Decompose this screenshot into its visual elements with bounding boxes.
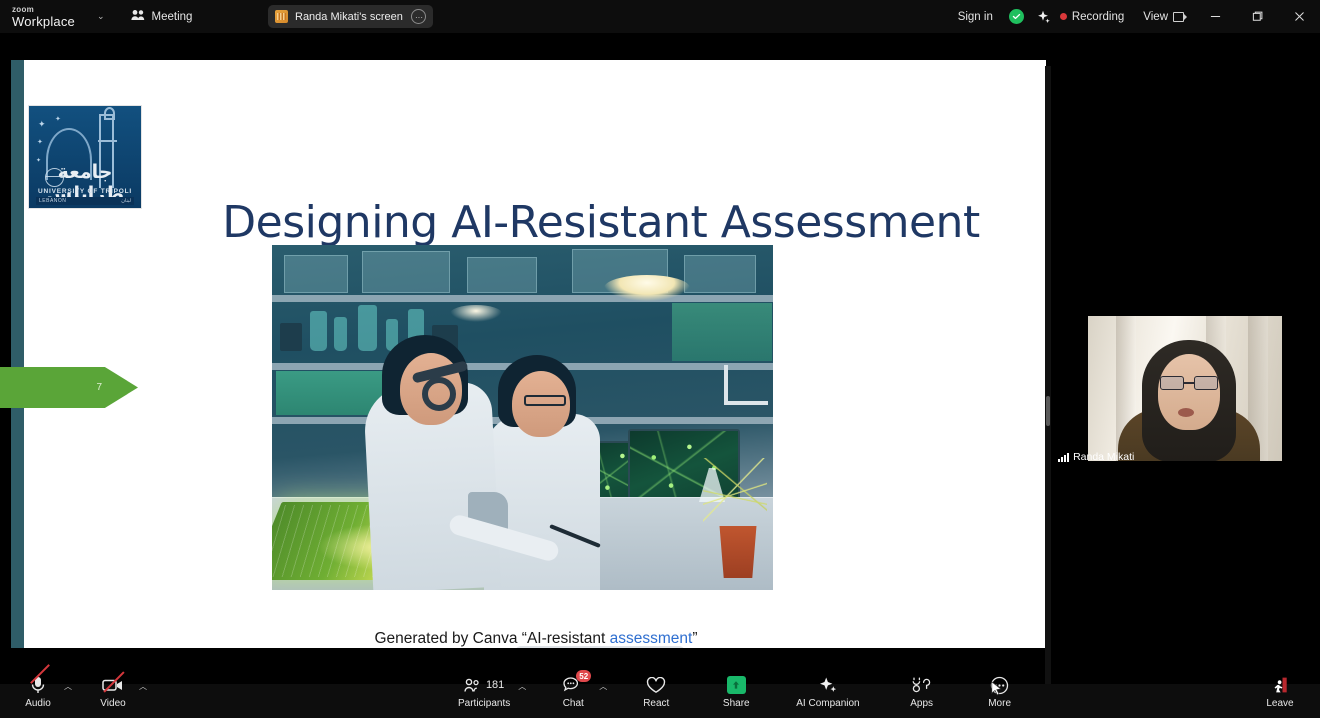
participants-label: Participants — [458, 698, 510, 709]
more-options-icon[interactable]: ··· — [411, 9, 426, 24]
video-button[interactable]: Video — [91, 675, 135, 709]
zoom-brand-small: zoom — [12, 6, 75, 14]
shared-screen-stage: ✦ ✦ ✦ ✦ جامعة طرابلس UNIVERSITY OF TRIPO… — [0, 33, 1320, 684]
caption-suffix: ” — [692, 630, 697, 647]
audio-level-icon — [1058, 453, 1069, 462]
meeting-menu[interactable]: Meeting — [131, 8, 193, 26]
participants-count: 181 — [486, 679, 504, 691]
ai-companion-label: AI Companion — [796, 698, 859, 709]
ceiling-lamp — [450, 305, 502, 322]
recording-indicator[interactable]: Recording — [1060, 11, 1124, 23]
participant-name-bar: Randa Mikati — [1052, 449, 1140, 465]
logo-english-name: UNIVERSITY OF TRIPOLI — [29, 188, 141, 195]
panel-splitter[interactable] — [1045, 66, 1051, 717]
heart-icon — [646, 675, 666, 695]
chat-label: Chat — [563, 698, 584, 709]
slide-left-accent-bar — [11, 60, 24, 648]
lab-panel — [362, 251, 450, 293]
ceiling-lamp — [604, 275, 690, 301]
lab-equipment — [280, 323, 302, 351]
video-tile-randa-mikati[interactable]: Randa Mikati — [1052, 312, 1318, 465]
generated-lab-illustration — [272, 245, 773, 590]
logo-country-bar: LEBANON لبنان — [36, 197, 134, 205]
participant-glasses — [1160, 376, 1218, 390]
logo-country-ar: لبنان — [121, 198, 131, 204]
react-label: React — [643, 698, 669, 709]
lab-flask — [310, 311, 327, 351]
people-icon — [131, 8, 145, 26]
chat-button[interactable]: 52 Chat — [551, 675, 595, 709]
react-button[interactable]: React — [634, 675, 678, 709]
scientist-glasses — [524, 395, 566, 406]
share-screen-icon — [727, 675, 746, 695]
participants-button[interactable]: 181 Participants — [454, 675, 514, 709]
title-bar-right: Sign in Recording View — [948, 0, 1320, 33]
chat-message-toast[interactable]: From Loco Chaudet to everyone We can not… — [515, 646, 685, 648]
audio-label: Audio — [25, 698, 51, 709]
ai-companion-button[interactable]: AI Companion — [792, 675, 863, 709]
caption-link[interactable]: assessment — [610, 630, 693, 647]
recording-dot-icon — [1060, 13, 1067, 20]
leave-door-icon — [1270, 675, 1290, 695]
lab-panel — [284, 255, 348, 293]
apps-label: Apps — [910, 698, 933, 709]
shared-screen-tab-label: Randa Mikati's screen — [295, 11, 404, 23]
lab-panel — [467, 257, 537, 293]
video-label: Video — [100, 698, 125, 709]
star-icon: ✦ — [38, 120, 46, 129]
chat-options-chevron-icon[interactable]: ︿ — [596, 675, 610, 692]
minimize-button[interactable] — [1194, 0, 1236, 33]
participant-name-label: Randa Mikati — [1073, 451, 1134, 463]
audio-options-chevron-icon[interactable]: ︿ — [61, 675, 75, 692]
zoom-workplace-logo: zoom Workplace — [12, 6, 75, 28]
ai-sparkle-icon — [818, 675, 838, 695]
view-button[interactable]: View — [1143, 11, 1184, 23]
terracotta-pot — [717, 526, 759, 578]
university-logo: ✦ ✦ ✦ ✦ جامعة طرابلس UNIVERSITY OF TRIPO… — [28, 105, 142, 209]
view-label: View — [1143, 11, 1168, 23]
headphones-icon — [422, 377, 456, 411]
shelf — [272, 295, 773, 302]
globe-icon — [45, 168, 64, 187]
microphone-muted-icon — [30, 675, 46, 695]
apps-icon — [912, 675, 932, 695]
logo-country-en: LEBANON — [39, 198, 66, 204]
participants-icon: 181 — [464, 675, 504, 695]
leave-label: Leave — [1266, 698, 1293, 709]
zoom-brand-main: Workplace — [12, 15, 75, 28]
sign-in-button[interactable]: Sign in — [948, 11, 1003, 23]
view-layout-icon — [1173, 12, 1184, 22]
meeting-label: Meeting — [152, 11, 193, 23]
video-frame — [1088, 316, 1282, 461]
shield-check-icon[interactable] — [1009, 9, 1024, 24]
title-bar: zoom Workplace ⌄ Meeting Randa Mikati's … — [0, 0, 1320, 33]
star-icon: ✦ — [37, 139, 43, 146]
recording-label: Recording — [1072, 11, 1124, 23]
screen-thumbnail-icon — [275, 10, 288, 23]
splitter-grip[interactable] — [1046, 396, 1050, 426]
green-specimen-rack — [672, 303, 772, 361]
audio-button[interactable]: Audio — [16, 675, 60, 709]
presentation-slide[interactable]: ✦ ✦ ✦ ✦ جامعة طرابلس UNIVERSITY OF TRIPO… — [11, 60, 1046, 648]
desk-lamp-arm — [724, 365, 768, 405]
ai-sparkle-icon[interactable] — [1036, 10, 1050, 24]
more-label: More — [988, 698, 1011, 709]
leave-meeting-button[interactable]: Leave — [1258, 675, 1302, 709]
shared-screen-tab[interactable]: Randa Mikati's screen ··· — [268, 5, 433, 28]
mouse-cursor — [991, 681, 1002, 697]
caption-prefix: Generated by Canva “AI-resistant — [374, 630, 609, 647]
close-button[interactable] — [1278, 0, 1320, 33]
camera-muted-icon — [102, 675, 124, 695]
lab-flask — [334, 317, 347, 351]
chevron-down-icon[interactable]: ⌄ — [93, 7, 109, 26]
maximize-button[interactable] — [1236, 0, 1278, 33]
lab-flask — [358, 305, 377, 351]
participant-face — [1158, 354, 1220, 430]
video-options-chevron-icon[interactable]: ︿ — [136, 675, 150, 692]
chat-unread-badge: 52 — [576, 670, 591, 682]
star-icon: ✦ — [55, 116, 61, 123]
slide-title: Designing AI-Resistant Assessment — [206, 197, 996, 248]
share-label: Share — [723, 698, 750, 709]
share-screen-button[interactable]: Share — [714, 675, 758, 709]
lab-panel — [684, 255, 756, 293]
participant-mouth — [1178, 408, 1194, 417]
slide-number: 7 — [96, 382, 102, 393]
apps-button[interactable]: Apps — [900, 675, 944, 709]
chat-icon: 52 — [563, 675, 583, 695]
participants-options-chevron-icon[interactable]: ︿ — [515, 675, 529, 692]
meeting-toolbar-items: Audio ︿ Video ︿ — [0, 666, 1320, 718]
potted-plant-leaves — [703, 458, 767, 532]
